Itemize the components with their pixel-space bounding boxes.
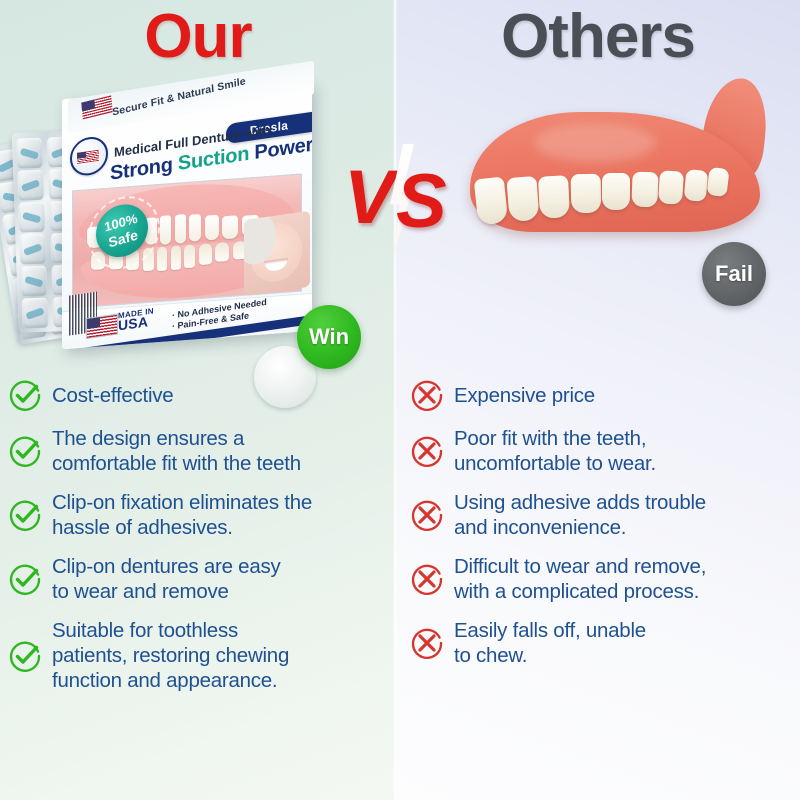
list-item: The design ensures acomfortable fit with…	[0, 426, 396, 476]
retail-box: Dresla Medical Full Denture with Strong …	[62, 80, 316, 352]
list-item-text: Expensive price	[454, 383, 595, 408]
tooth	[184, 244, 195, 267]
tooth	[538, 175, 570, 218]
usa-text: USA	[118, 314, 148, 332]
tooth	[171, 245, 181, 270]
cross-circle-icon	[410, 434, 444, 468]
list-item: Expensive price	[400, 378, 800, 412]
list-item: Suitable for toothlesspatients, restorin…	[0, 618, 396, 693]
check-circle-icon	[8, 562, 42, 596]
tooth	[222, 215, 238, 239]
check-circle-icon	[8, 434, 42, 468]
check-circle-icon	[8, 639, 42, 673]
fail-badge: Fail	[702, 242, 766, 306]
usa-seal-icon	[70, 134, 108, 177]
cross-circle-icon	[410, 378, 444, 412]
list-item: Clip-on dentures are easyto wear and rem…	[0, 554, 396, 604]
list-item-text: The design ensures acomfortable fit with…	[52, 426, 301, 476]
list-item: Poor fit with the teeth,uncomfortable to…	[400, 426, 800, 476]
check-circle-icon	[8, 562, 42, 596]
list-item: Difficult to wear and remove,with a comp…	[400, 554, 800, 604]
list-item-text: Clip-on fixation eliminates thehassle of…	[52, 490, 312, 540]
list-item: Cost-effective	[0, 378, 396, 412]
tooth	[658, 170, 684, 204]
list-item-text: Difficult to wear and remove,with a comp…	[454, 554, 706, 604]
win-badge-label: Win	[297, 305, 361, 369]
cross-circle-icon	[410, 498, 444, 532]
list-item-text: Easily falls off, unableto chew.	[454, 618, 646, 668]
tooth	[570, 174, 601, 214]
check-circle-icon	[8, 639, 42, 673]
header-others: Others	[396, 6, 800, 68]
tooth	[215, 242, 229, 262]
check-circle-icon	[8, 498, 42, 532]
competitor-denture-image: Fail	[400, 60, 800, 370]
comparison-infographic: Our Others Dresla Medical Full Denture w…	[0, 0, 800, 800]
tooth	[160, 215, 171, 245]
list-item-text: Using adhesive adds troubleand inconveni…	[454, 490, 706, 540]
tooth	[175, 214, 186, 244]
cross-circle-icon	[410, 562, 444, 596]
list-item-text: Poor fit with the teeth,uncomfortable to…	[454, 426, 656, 476]
list-item: Clip-on fixation eliminates thehassle of…	[0, 490, 396, 540]
tooth	[631, 172, 658, 208]
list-item-text: Cost-effective	[52, 383, 173, 408]
tooth	[602, 173, 630, 210]
check-circle-icon	[8, 378, 42, 412]
us-flag-icon	[81, 95, 112, 119]
cross-circle-icon	[410, 378, 444, 412]
tooth	[199, 243, 212, 265]
header-our: Our	[0, 6, 396, 68]
tooth	[474, 177, 509, 226]
tooth	[157, 246, 167, 271]
versus-letter-v: V	[344, 160, 395, 236]
check-circle-icon	[8, 434, 42, 468]
list-item: Using adhesive adds troubleand inconveni…	[400, 490, 800, 540]
tooth	[189, 214, 201, 242]
us-flag-icon	[86, 314, 118, 340]
cross-circle-icon	[410, 562, 444, 596]
model-photo	[244, 211, 310, 296]
cross-circle-icon	[410, 626, 444, 660]
us-flag-icon	[77, 150, 99, 164]
tooth	[205, 215, 219, 241]
tooth	[683, 169, 708, 201]
list-item-text: Suitable for toothlesspatients, restorin…	[52, 618, 289, 693]
check-circle-icon	[8, 378, 42, 412]
win-badge: Win	[297, 305, 361, 369]
list-item-text: Clip-on dentures are easyto wear and rem…	[52, 554, 281, 604]
check-circle-icon	[8, 498, 42, 532]
list-item: Easily falls off, unableto chew.	[400, 618, 800, 668]
cross-circle-icon	[410, 626, 444, 660]
cons-list: Expensive pricePoor fit with the teeth,u…	[400, 378, 800, 682]
tooth	[506, 176, 539, 222]
fail-badge-label: Fail	[702, 242, 766, 306]
cross-circle-icon	[410, 498, 444, 532]
pros-list: Cost-effectiveThe design ensures acomfor…	[0, 378, 396, 707]
cross-circle-icon	[410, 434, 444, 468]
